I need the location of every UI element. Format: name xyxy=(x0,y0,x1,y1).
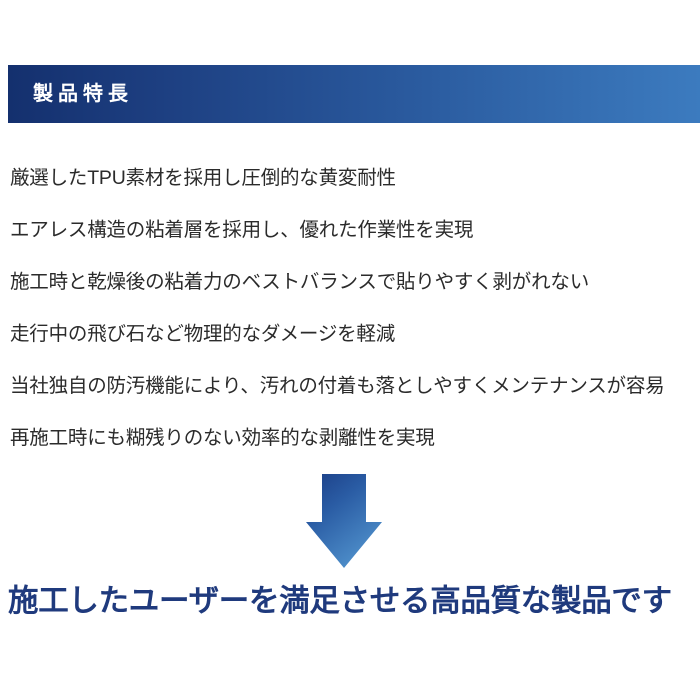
feature-item: エアレス構造の粘着層を採用し、優れた作業性を実現 xyxy=(10,204,695,256)
product-features-page: 製品特長 厳選したTPU素材を採用し圧倒的な黄変耐性 エアレス構造の粘着層を採用… xyxy=(0,0,700,700)
section-banner: 製品特長 xyxy=(8,65,700,123)
feature-item: 再施工時にも糊残りのない効率的な剥離性を実現 xyxy=(10,412,695,464)
arrow-down-icon xyxy=(303,472,385,570)
feature-list: 厳選したTPU素材を採用し圧倒的な黄変耐性 エアレス構造の粘着層を採用し、優れた… xyxy=(10,152,695,464)
feature-item: 走行中の飛び石など物理的なダメージを軽減 xyxy=(10,308,695,360)
section-banner-title: 製品特長 xyxy=(33,84,133,104)
feature-item: 厳選したTPU素材を採用し圧倒的な黄変耐性 xyxy=(10,152,695,204)
feature-item: 施工時と乾燥後の粘着力のベストバランスで貼りやすく剥がれない xyxy=(10,256,695,308)
closing-headline: 施工したユーザーを満足させる高品質な製品です xyxy=(8,579,698,623)
feature-item: 当社独自の防汚機能により、汚れの付着も落としやすくメンテナンスが容易 xyxy=(10,360,695,412)
